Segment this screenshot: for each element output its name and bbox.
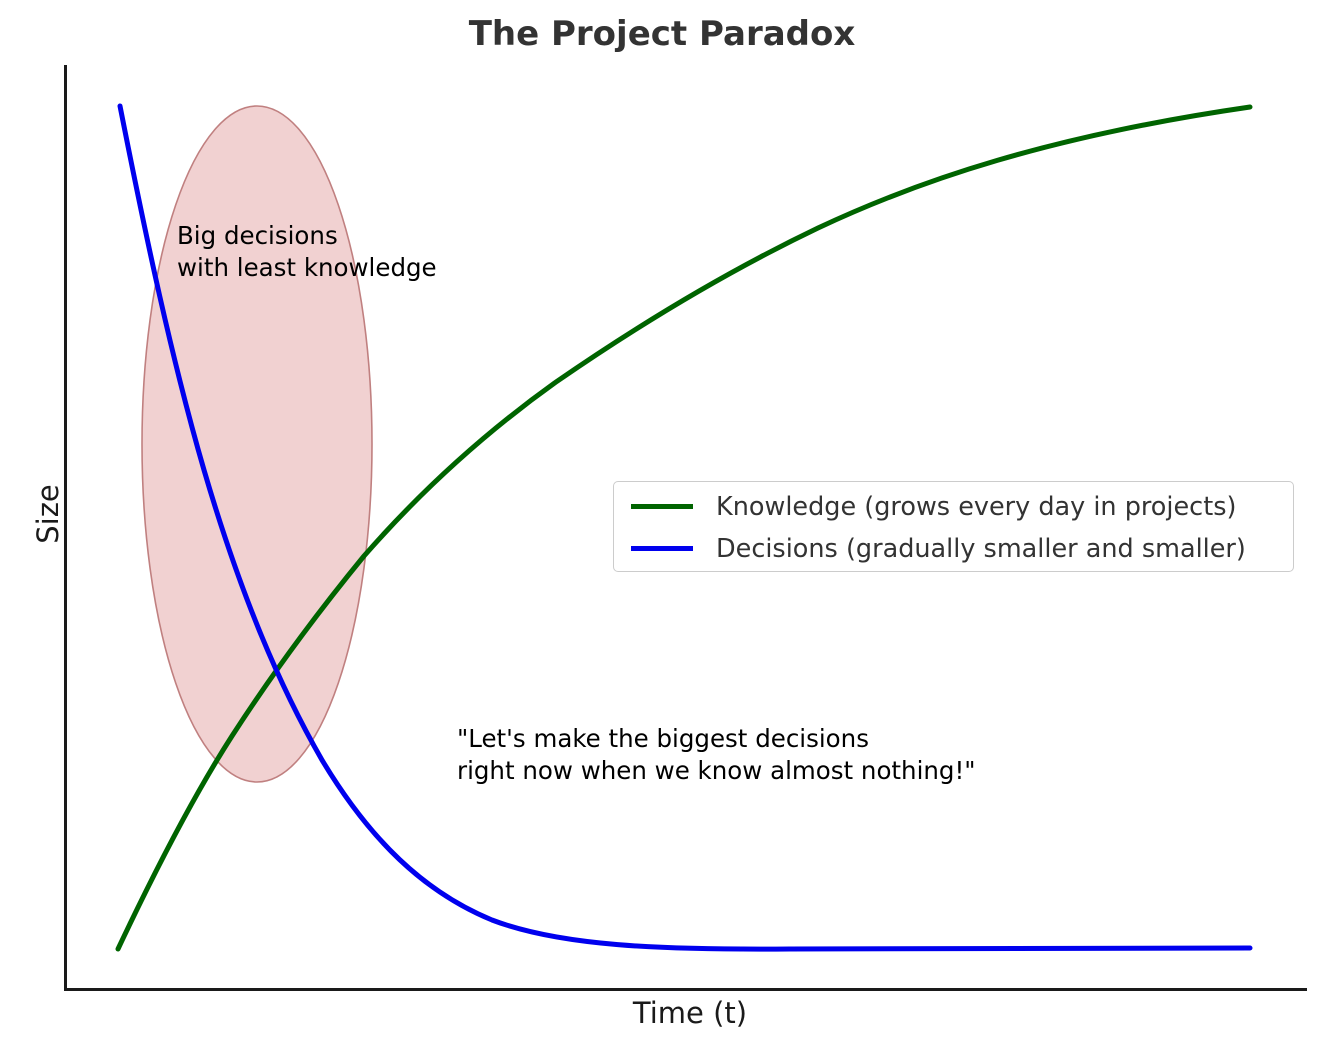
annotation-big-decisions: Big decisionswith least knowledge bbox=[177, 220, 437, 285]
chart-legend: Knowledge (grows every day in projects) … bbox=[613, 481, 1294, 572]
annotation-quote-line2: right now when we know almost nothing!" bbox=[457, 756, 976, 785]
annotation-big-decisions-line1: Big decisions bbox=[177, 221, 338, 250]
legend-swatch-knowledge bbox=[631, 504, 693, 509]
annotation-quote-line1: "Let's make the biggest decisions bbox=[457, 724, 869, 753]
annotation-big-decisions-line2: with least knowledge bbox=[177, 253, 437, 282]
chart-figure: The Project Paradox Size Time (t) Big de… bbox=[0, 0, 1324, 1054]
highlight-ellipse bbox=[142, 106, 372, 782]
legend-item-decisions: Decisions (gradually smaller and smaller… bbox=[614, 526, 1246, 571]
legend-item-knowledge: Knowledge (grows every day in projects) bbox=[614, 484, 1236, 529]
annotation-quote: "Let's make the biggest decisionsright n… bbox=[457, 723, 976, 788]
x-axis-label: Time (t) bbox=[0, 996, 1324, 1030]
y-axis-label: Size bbox=[31, 454, 65, 574]
legend-swatch-decisions bbox=[631, 546, 693, 551]
legend-label-decisions: Decisions (gradually smaller and smaller… bbox=[716, 534, 1246, 564]
legend-label-knowledge: Knowledge (grows every day in projects) bbox=[716, 492, 1236, 522]
